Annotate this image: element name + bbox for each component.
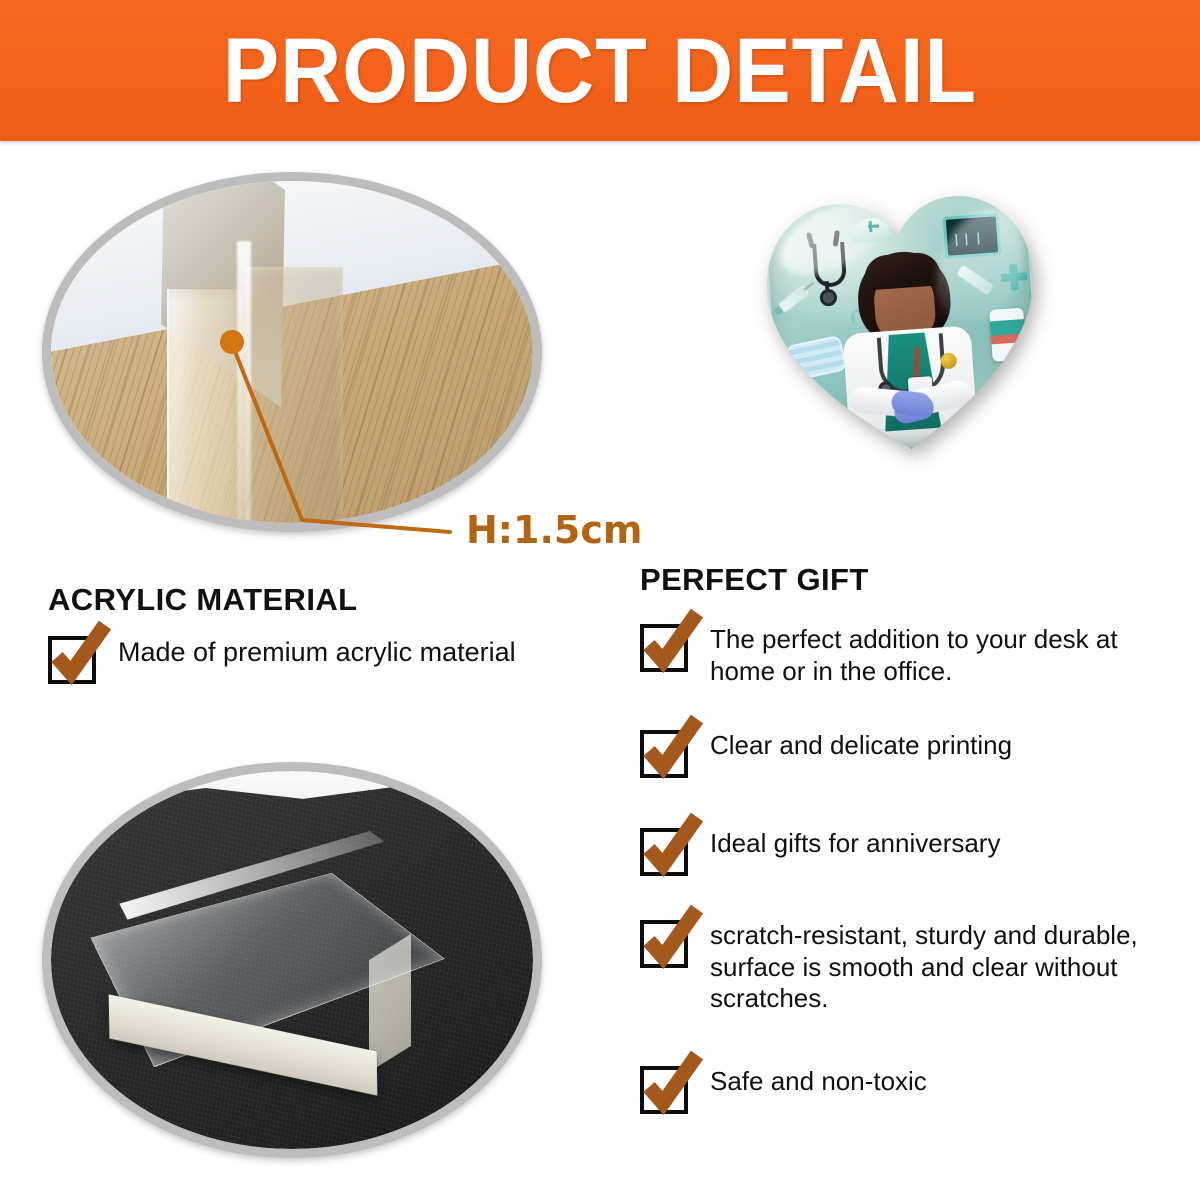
acrylic-side-face <box>245 267 343 523</box>
checkbox-checked-icon <box>640 920 688 968</box>
acrylic-front-face <box>167 289 247 523</box>
list-item-label: scratch-resistant, sturdy and durable, s… <box>710 920 1170 1015</box>
product-detail-infographic: PRODUCT DETAIL H:1.5cm <box>0 0 1200 1200</box>
acrylic-edge-highlight <box>237 241 251 523</box>
photo-block-inner <box>51 771 533 1149</box>
list-item: Ideal gifts for anniversary <box>640 828 1160 876</box>
height-measurement-label: H:1.5cm <box>466 508 642 552</box>
list-item: Safe and non-toxic <box>640 1066 1160 1114</box>
list-item: The perfect addition to your desk at hom… <box>640 624 1160 687</box>
checkbox-checked-icon <box>640 828 688 876</box>
checkbox-checked-icon <box>640 1066 688 1114</box>
list-item-label: Clear and delicate printing <box>710 730 1012 762</box>
list-item: Clear and delicate printing <box>640 730 1160 778</box>
section-heading-acrylic-material: ACRYLIC MATERIAL <box>48 582 357 618</box>
page-title: PRODUCT DETAIL <box>223 25 977 117</box>
checkbox-checked-icon <box>640 730 688 778</box>
heart-acrylic-shape <box>759 185 1047 465</box>
product-photo-edge-detail <box>42 172 542 532</box>
list-item-label: Made of premium acrylic material <box>118 636 516 669</box>
product-photo-block-on-slate <box>42 762 542 1158</box>
list-item: scratch-resistant, sturdy and durable, s… <box>640 920 1170 1015</box>
checkbox-checked-icon <box>640 624 688 672</box>
list-item-label: The perfect addition to your desk at hom… <box>710 624 1160 687</box>
header-banner: PRODUCT DETAIL <box>0 0 1200 141</box>
section-heading-perfect-gift: PERFECT GIFT <box>640 562 869 598</box>
list-item-label: Safe and non-toxic <box>710 1066 927 1098</box>
heart-rim <box>759 185 1047 465</box>
measurement-point-icon <box>220 330 244 354</box>
list-item-label: Ideal gifts for anniversary <box>710 828 1000 860</box>
heart-product-image <box>760 188 1050 490</box>
checkbox-checked-icon <box>48 636 96 684</box>
list-item: Made of premium acrylic material <box>48 636 608 684</box>
photo-edge-inner <box>51 181 533 523</box>
